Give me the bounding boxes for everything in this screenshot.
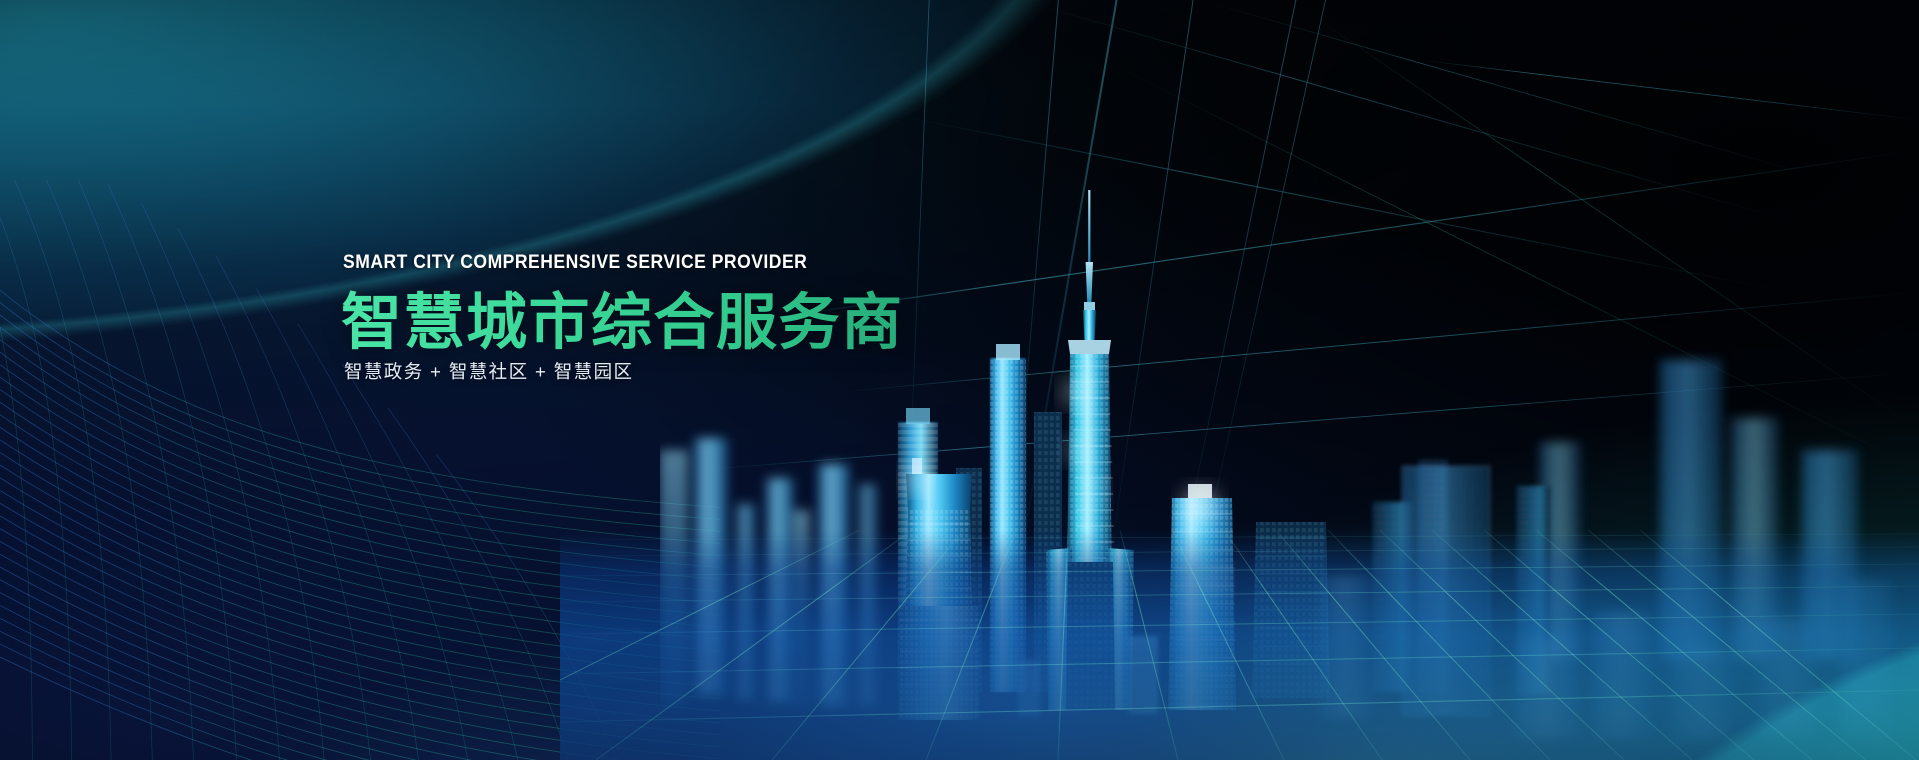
hero-text-block: SMART CITY COMPREHENSIVE SERVICE PROVIDE… bbox=[341, 253, 1101, 382]
hero-eyebrow: SMART CITY COMPREHENSIVE SERVICE PROVIDE… bbox=[343, 253, 1025, 273]
hero-headline: 智慧城市综合服务商 bbox=[341, 290, 1101, 356]
hero-subline: 智慧政务 + 智慧社区 + 智慧园区 bbox=[344, 363, 1101, 382]
perspective-ground-grid bbox=[560, 530, 1919, 760]
smart-city-hero-banner: SMART CITY COMPREHENSIVE SERVICE PROVIDE… bbox=[0, 0, 1919, 760]
